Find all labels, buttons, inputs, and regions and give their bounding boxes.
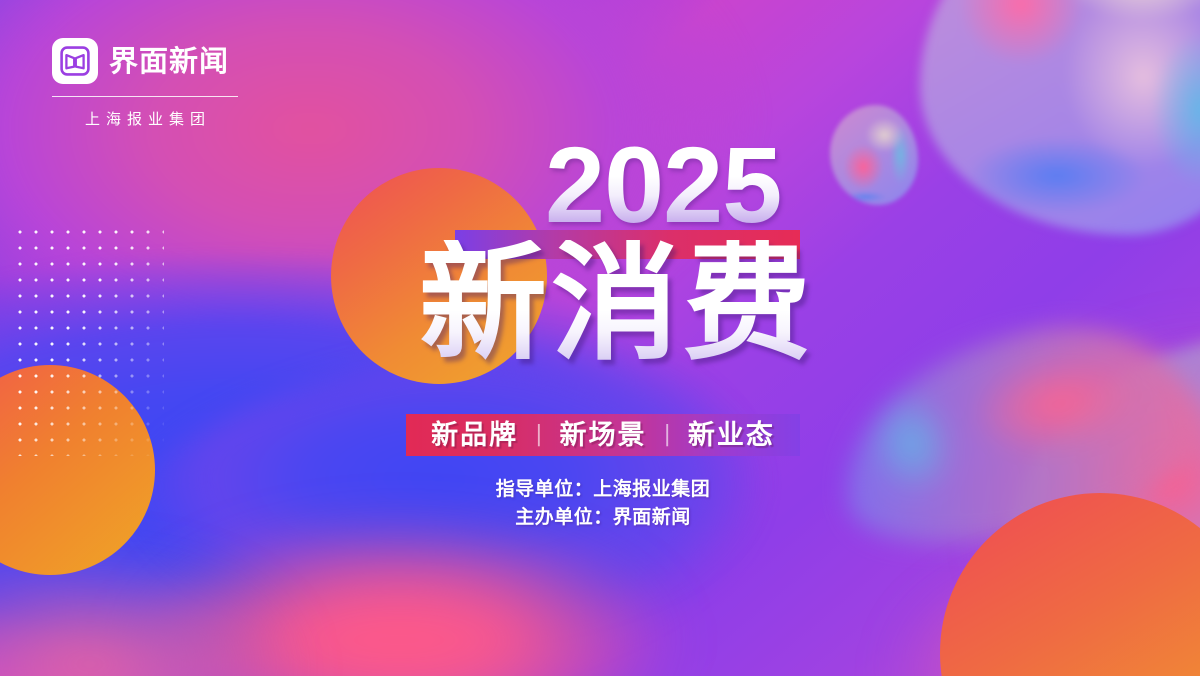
hero-year: 2025 (545, 131, 781, 239)
subtitle-item-new-scenario: 新场景 (560, 422, 647, 449)
credits-block: 指导单位：上海报业集团 主办单位：界面新闻 (406, 476, 800, 531)
subtitle-separator-2: | (647, 424, 688, 446)
hero-section: 2025 新消费 新品牌 | 新场景 | 新业态 指导单位：上海报业集团 主办单… (0, 0, 1200, 676)
hero-title: 新消费 (419, 240, 815, 368)
subtitle-item-new-brand: 新品牌 (431, 422, 518, 449)
subtitle-item-new-format: 新业态 (688, 422, 775, 449)
hero-subtitle-bar: 新品牌 | 新场景 | 新业态 (406, 414, 800, 456)
poster-canvas: 界面新闻 上海报业集团 2025 新消费 新品牌 | 新场景 | 新业态 指导单… (0, 0, 1200, 676)
subtitle-separator-1: | (518, 424, 559, 446)
credit-line-guidance: 指导单位：上海报业集团 (406, 476, 800, 504)
credit-line-organizer: 主办单位：界面新闻 (406, 504, 800, 532)
